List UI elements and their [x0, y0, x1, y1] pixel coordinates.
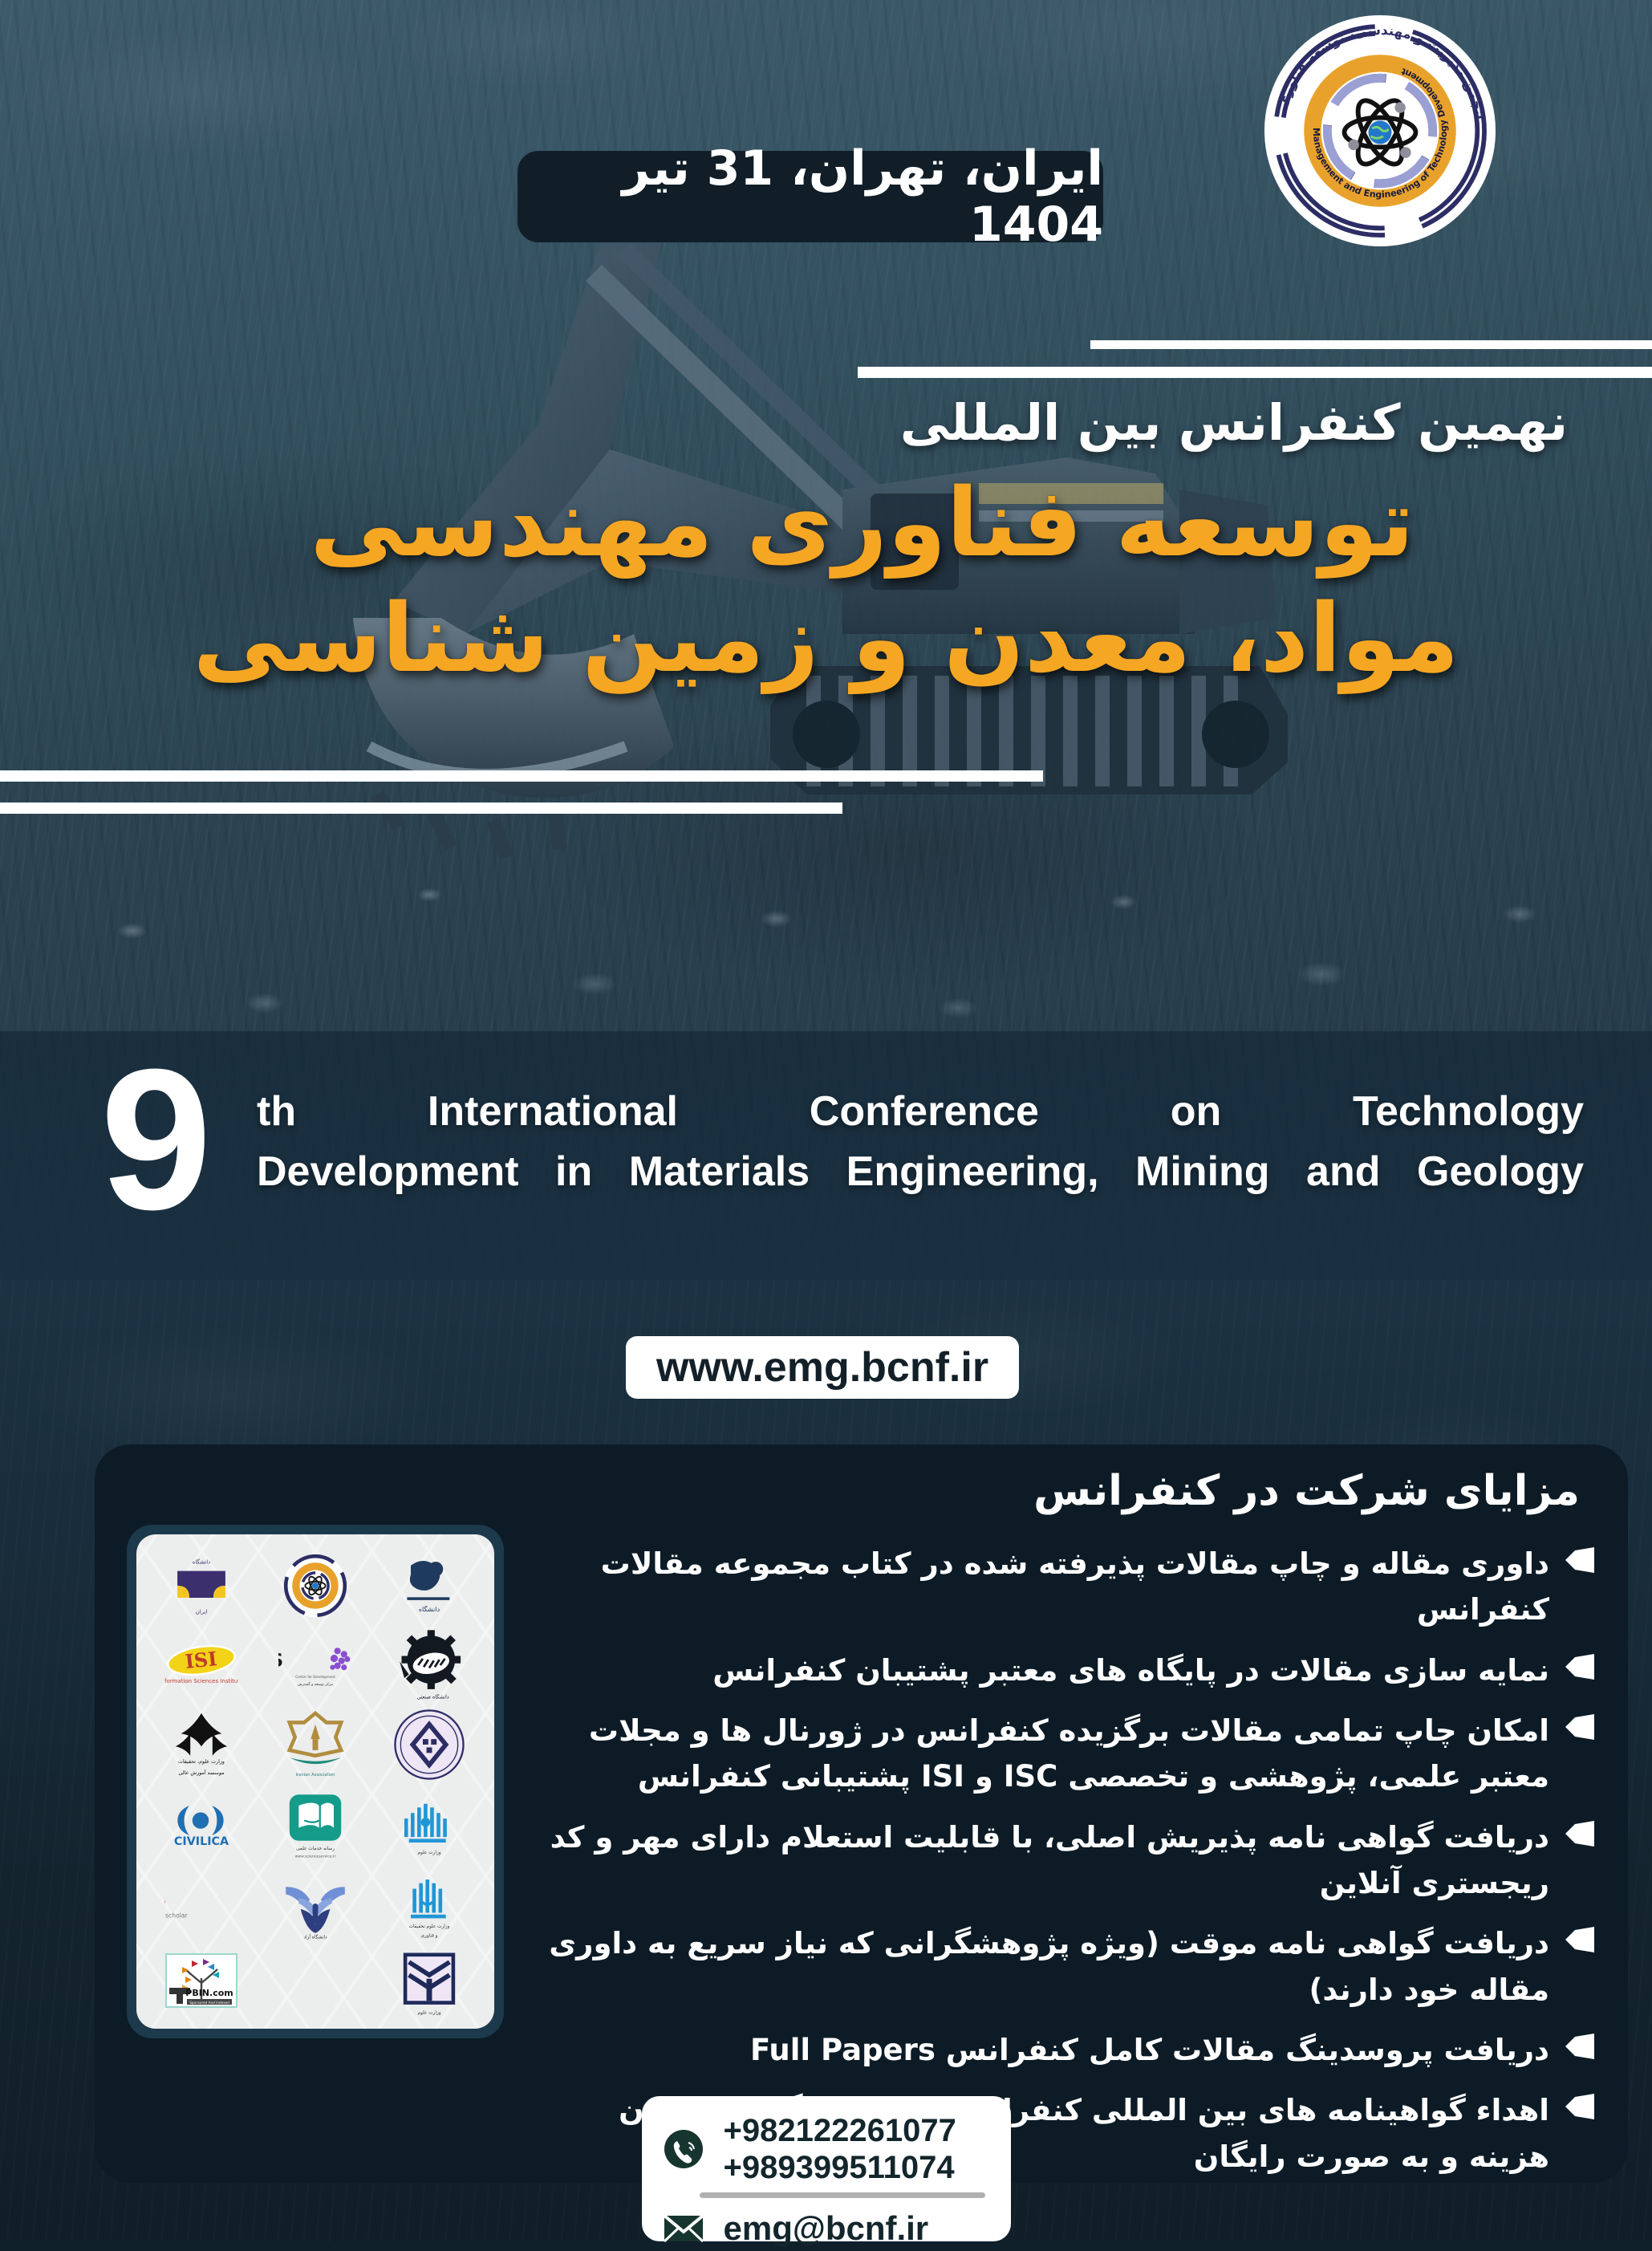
benefit-item: نمایه سازی مقالات در پایگاه های معتبر پش… — [529, 1648, 1596, 1693]
association-amet-logo — [278, 1549, 352, 1623]
decor-rule-top-right-2 — [858, 367, 1652, 378]
event-date-location-banner: ایران، تهران، 31 تیر 1404 — [518, 151, 1103, 242]
industrial-gear-university-logo: دانشگاه صنعتی — [392, 1628, 466, 1702]
svg-text:www.scienceservice.ir: www.scienceservice.ir — [295, 1855, 336, 1859]
svg-text:دانشگاه صنعتی: دانشگاه صنعتی — [417, 1693, 449, 1700]
association-logo: انجمن مدیریت و مهندسی، توسعه فناوری Asso… — [1264, 14, 1496, 247]
tpbin-logo: PBIN.comSponsored And Indexed — [164, 1944, 238, 2017]
phone-number-2: +989399511074 — [724, 2149, 956, 2186]
benefit-item: دریافت گواهی نامه پذیریش اصلی، با قابلیت… — [529, 1814, 1596, 1907]
islamic-azad-university-logo: دانشگاه آزاد — [278, 1867, 352, 1940]
sponsors-grid: دانشگاه دانشگاهایران دانشگاه صنعتی CDISC… — [136, 1534, 494, 2029]
pre-title: نهمین کنفرانس بین المللی — [605, 393, 1568, 452]
university-seal-logo — [392, 1708, 466, 1782]
benefit-text: نمایه سازی مقالات در پایگاه های معتبر پش… — [529, 1648, 1549, 1693]
svg-text:CDIS: CDIS — [278, 1651, 283, 1672]
phone-row: +982122261077 +989399511074 — [661, 2112, 992, 2186]
benefit-item: امکان چاپ تمامی مقالات برگزیده کنفرانس د… — [529, 1708, 1596, 1800]
svg-text:وزارت علوم: وزارت علوم — [417, 1851, 440, 1855]
svg-text:وزارت علوم تحقیقات: وزارت علوم تحقیقات — [409, 1924, 450, 1929]
svg-text:موسسه آموزش عالی: موسسه آموزش عالی — [179, 1769, 225, 1776]
university-yellow-purple-logo: دانشگاهایران — [164, 1549, 238, 1623]
event-date-text: ایران، تهران، 31 تیر 1404 — [518, 140, 1103, 253]
english-subtitle-line-2: Development in Materials Engineering, Mi… — [257, 1142, 1584, 1202]
benefit-text: دریافت گواهی نامه پذیریش اصلی، با قابلیت… — [529, 1814, 1549, 1907]
bullet-pentagon-icon — [1564, 2092, 1596, 2121]
svg-text:CIVILICA: CIVILICA — [174, 1835, 229, 1848]
email-row: emg@bcnf.ir — [661, 2206, 992, 2251]
decor-rule-bottom-left-2 — [0, 802, 842, 814]
svg-text:Google: Google — [164, 1890, 166, 1914]
svg-text:مرکز توسعه و گسترش: مرکز توسعه و گسترش — [298, 1681, 334, 1687]
sponsors-frame: دانشگاه دانشگاهایران دانشگاه صنعتی CDISC… — [127, 1525, 504, 2038]
benefit-item: دریافت پروسدینگ مقالات کامل کنفرانس Full… — [529, 2027, 1596, 2073]
empty-slot — [278, 1944, 352, 2017]
envelope-icon — [661, 2206, 706, 2251]
benefits-panel-title: مزایای شرکت در کنفرانس — [1033, 1467, 1580, 1515]
ordinal-number-9: 9 — [100, 1039, 212, 1240]
phone-number-1: +982122261077 — [724, 2112, 956, 2149]
ministry-research-logo: وزارت علوم تحقیقاتو فناوری — [392, 1867, 466, 1940]
decor-rule-bottom-left-1 — [0, 770, 1043, 782]
bullet-pentagon-icon — [1564, 1652, 1596, 1681]
contact-divider — [700, 2192, 985, 2198]
svg-text:دانشگاه: دانشگاه — [419, 1605, 440, 1613]
svg-text:دانشگاه آزاد: دانشگاه آزاد — [303, 1934, 327, 1940]
google-scholar-logo: Googlescholar — [164, 1867, 238, 1940]
academic-pen-logo: Iranian Association — [278, 1708, 352, 1782]
decor-rule-top-right-1 — [1090, 340, 1652, 349]
bullet-pentagon-icon — [1564, 1713, 1596, 1741]
university-logo-1: دانشگاه — [392, 1549, 466, 1623]
contact-card: +982122261077 +989399511074 emg@bcnf.ir — [642, 2096, 1011, 2241]
main-title: توسعه فناوری مهندسی مواد، معدن و زمین شن… — [0, 465, 1652, 697]
phone-icon — [661, 2127, 706, 2172]
benefits-panel: مزایای شرکت در کنفرانس دانشگاه دانشگاهای… — [95, 1444, 1628, 2183]
azad-university-branch-logo: وزارت علوم — [392, 1787, 466, 1861]
conference-poster: ایران، تهران، 31 تیر 1404 انجمن مدیریت و… — [0, 0, 1652, 2241]
svg-text:وزارت علوم، تحقیقات: وزارت علوم، تحقیقات — [178, 1759, 225, 1765]
benefit-item: دریافت گواهی نامه موقت (ویژه پژوهشگرانی … — [529, 1920, 1596, 2013]
main-title-line-2: مواد، معدن و زمین شناسی — [48, 581, 1604, 697]
main-title-line-1: توسعه فناوری مهندسی — [48, 465, 1604, 581]
bullet-pentagon-icon — [1564, 1819, 1596, 1848]
svg-text:Sponsored And Indexed: Sponsored And Indexed — [189, 2001, 229, 2005]
svg-text:رسانه خدمات علمی: رسانه خدمات علمی — [296, 1847, 335, 1851]
bullet-pentagon-icon — [1564, 1925, 1596, 1954]
english-subtitle: th International Conference on Technolog… — [257, 1082, 1584, 1203]
website-badge[interactable]: www.emg.bcnf.ir — [626, 1336, 1019, 1399]
svg-text:Information Sciences Institute: Information Sciences Institute — [164, 1678, 238, 1684]
svg-text:وزارت علوم: وزارت علوم — [417, 2010, 440, 2015]
phone-numbers: +982122261077 +989399511074 — [724, 2112, 956, 2186]
benefit-text: داوری مقاله و چاپ مقالات پذیرفته شده در … — [529, 1541, 1549, 1633]
svg-text:PBIN.com: PBIN.com — [185, 1988, 233, 1998]
website-url-text: www.emg.bcnf.ir — [656, 1343, 988, 1392]
svg-text:scholar: scholar — [165, 1912, 189, 1920]
book-ministry-logo: وزارت علوم — [392, 1944, 466, 2017]
svg-text:دانشگاه: دانشگاه — [193, 1558, 211, 1565]
benefit-text: امکان چاپ تمامی مقالات برگزیده کنفرانس د… — [529, 1708, 1549, 1800]
svg-text:ایران: ایران — [196, 1608, 208, 1615]
email-address: emg@bcnf.ir — [724, 2209, 929, 2248]
svg-text:ISI: ISI — [184, 1647, 218, 1673]
benefit-text: دریافت گواهی نامه موقت (ویژه پژوهشگرانی … — [529, 1920, 1549, 2013]
isi-logo: ISIInformation Sciences Institute — [164, 1628, 238, 1702]
benefit-item: داوری مقاله و چاپ مقالات پذیرفته شده در … — [529, 1541, 1596, 1633]
ministry-science-logo: وزارت علوم، تحقیقاتموسسه آموزش عالی — [164, 1708, 238, 1782]
civilica-logo: CIVILICA — [164, 1787, 238, 1861]
bullet-pentagon-icon — [1564, 1546, 1596, 1574]
science-service-logo: رسانه خدمات علمیwww.scienceservice.ir — [278, 1787, 352, 1861]
cdis-logo: CDISCenter for Developmentمرکز توسعه و گ… — [278, 1628, 352, 1702]
english-subtitle-line-1: th International Conference on Technolog… — [257, 1082, 1584, 1142]
benefit-text: دریافت پروسدینگ مقالات کامل کنفرانس Full… — [529, 2027, 1549, 2073]
svg-text:Iranian Association: Iranian Association — [296, 1773, 335, 1778]
svg-text:Center for Development: Center for Development — [295, 1675, 335, 1679]
bullet-pentagon-icon — [1564, 2032, 1596, 2061]
svg-text:و فناوری: و فناوری — [421, 1934, 438, 1939]
